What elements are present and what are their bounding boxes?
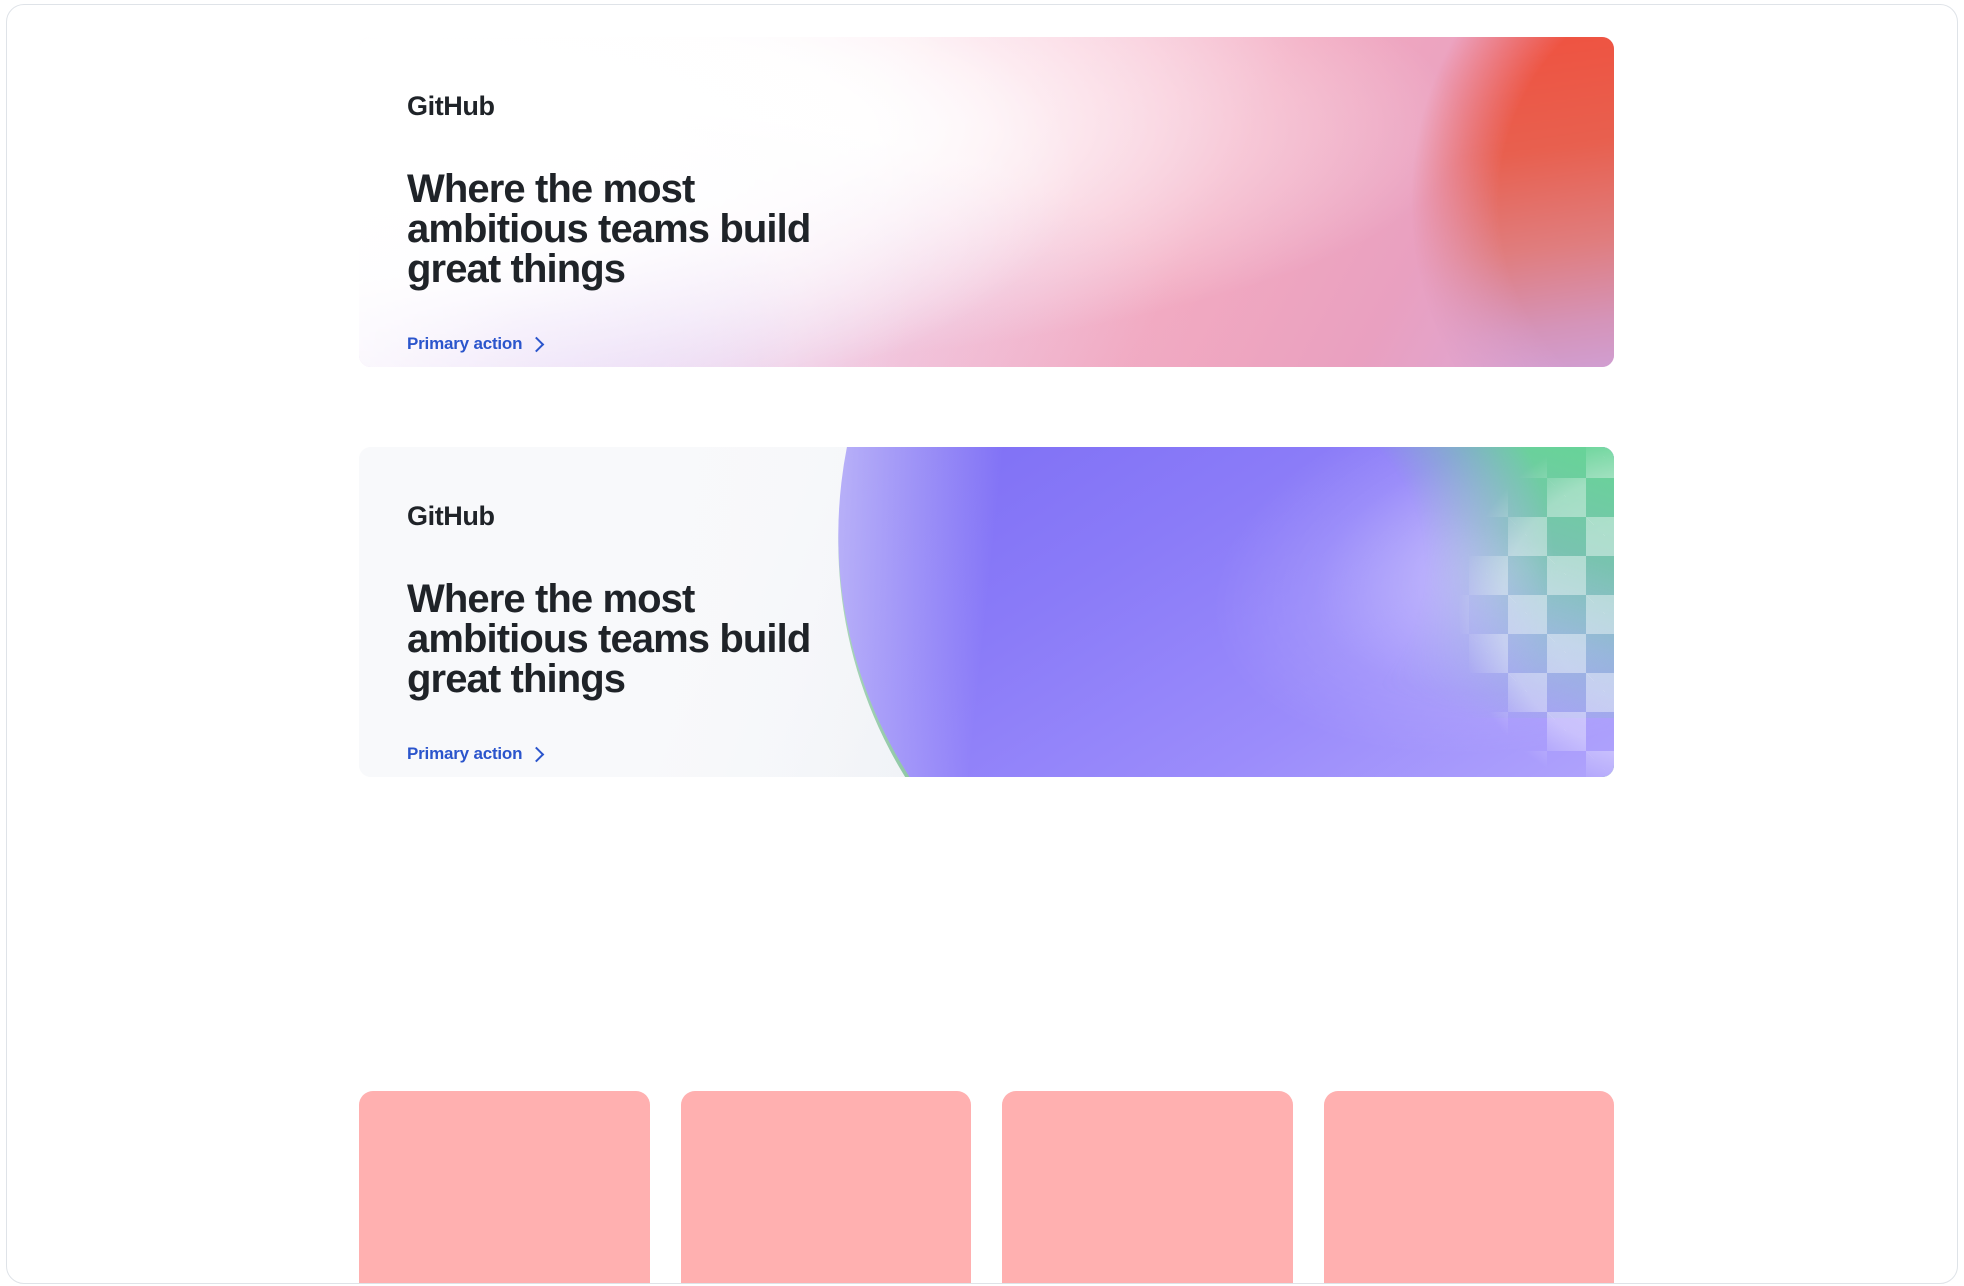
scroll-container[interactable]: GitHub Where the most ambitious teams bu… [7, 5, 1957, 1283]
hero-banner-violet-content: GitHub Where the most ambitious teams bu… [359, 447, 1614, 777]
github-wordmark: GitHub [407, 503, 1614, 530]
page-frame: GitHub Where the most ambitious teams bu… [6, 4, 1958, 1284]
github-wordmark: GitHub [407, 93, 1614, 120]
chevron-right-icon [529, 746, 545, 762]
hero-banner-pink[interactable]: GitHub Where the most ambitious teams bu… [359, 37, 1614, 367]
primary-action-label: Primary action [407, 744, 522, 764]
primary-action-label: Primary action [407, 334, 522, 354]
primary-action-link[interactable]: Primary action [407, 744, 542, 764]
placeholder-card-1[interactable] [359, 1091, 650, 1283]
placeholder-card-3[interactable] [1002, 1091, 1293, 1283]
hero-heading: Where the most ambitious teams build gre… [407, 169, 967, 289]
hero-banner-violet[interactable]: GitHub Where the most ambitious teams bu… [359, 447, 1614, 777]
hero-heading: Where the most ambitious teams build gre… [407, 579, 967, 699]
primary-action-link[interactable]: Primary action [407, 334, 542, 354]
chevron-right-icon [529, 336, 545, 352]
placeholder-card-4[interactable] [1324, 1091, 1615, 1283]
hero-banner-pink-content: GitHub Where the most ambitious teams bu… [359, 37, 1614, 367]
placeholder-card-row [359, 1091, 1614, 1283]
placeholder-card-2[interactable] [681, 1091, 972, 1283]
